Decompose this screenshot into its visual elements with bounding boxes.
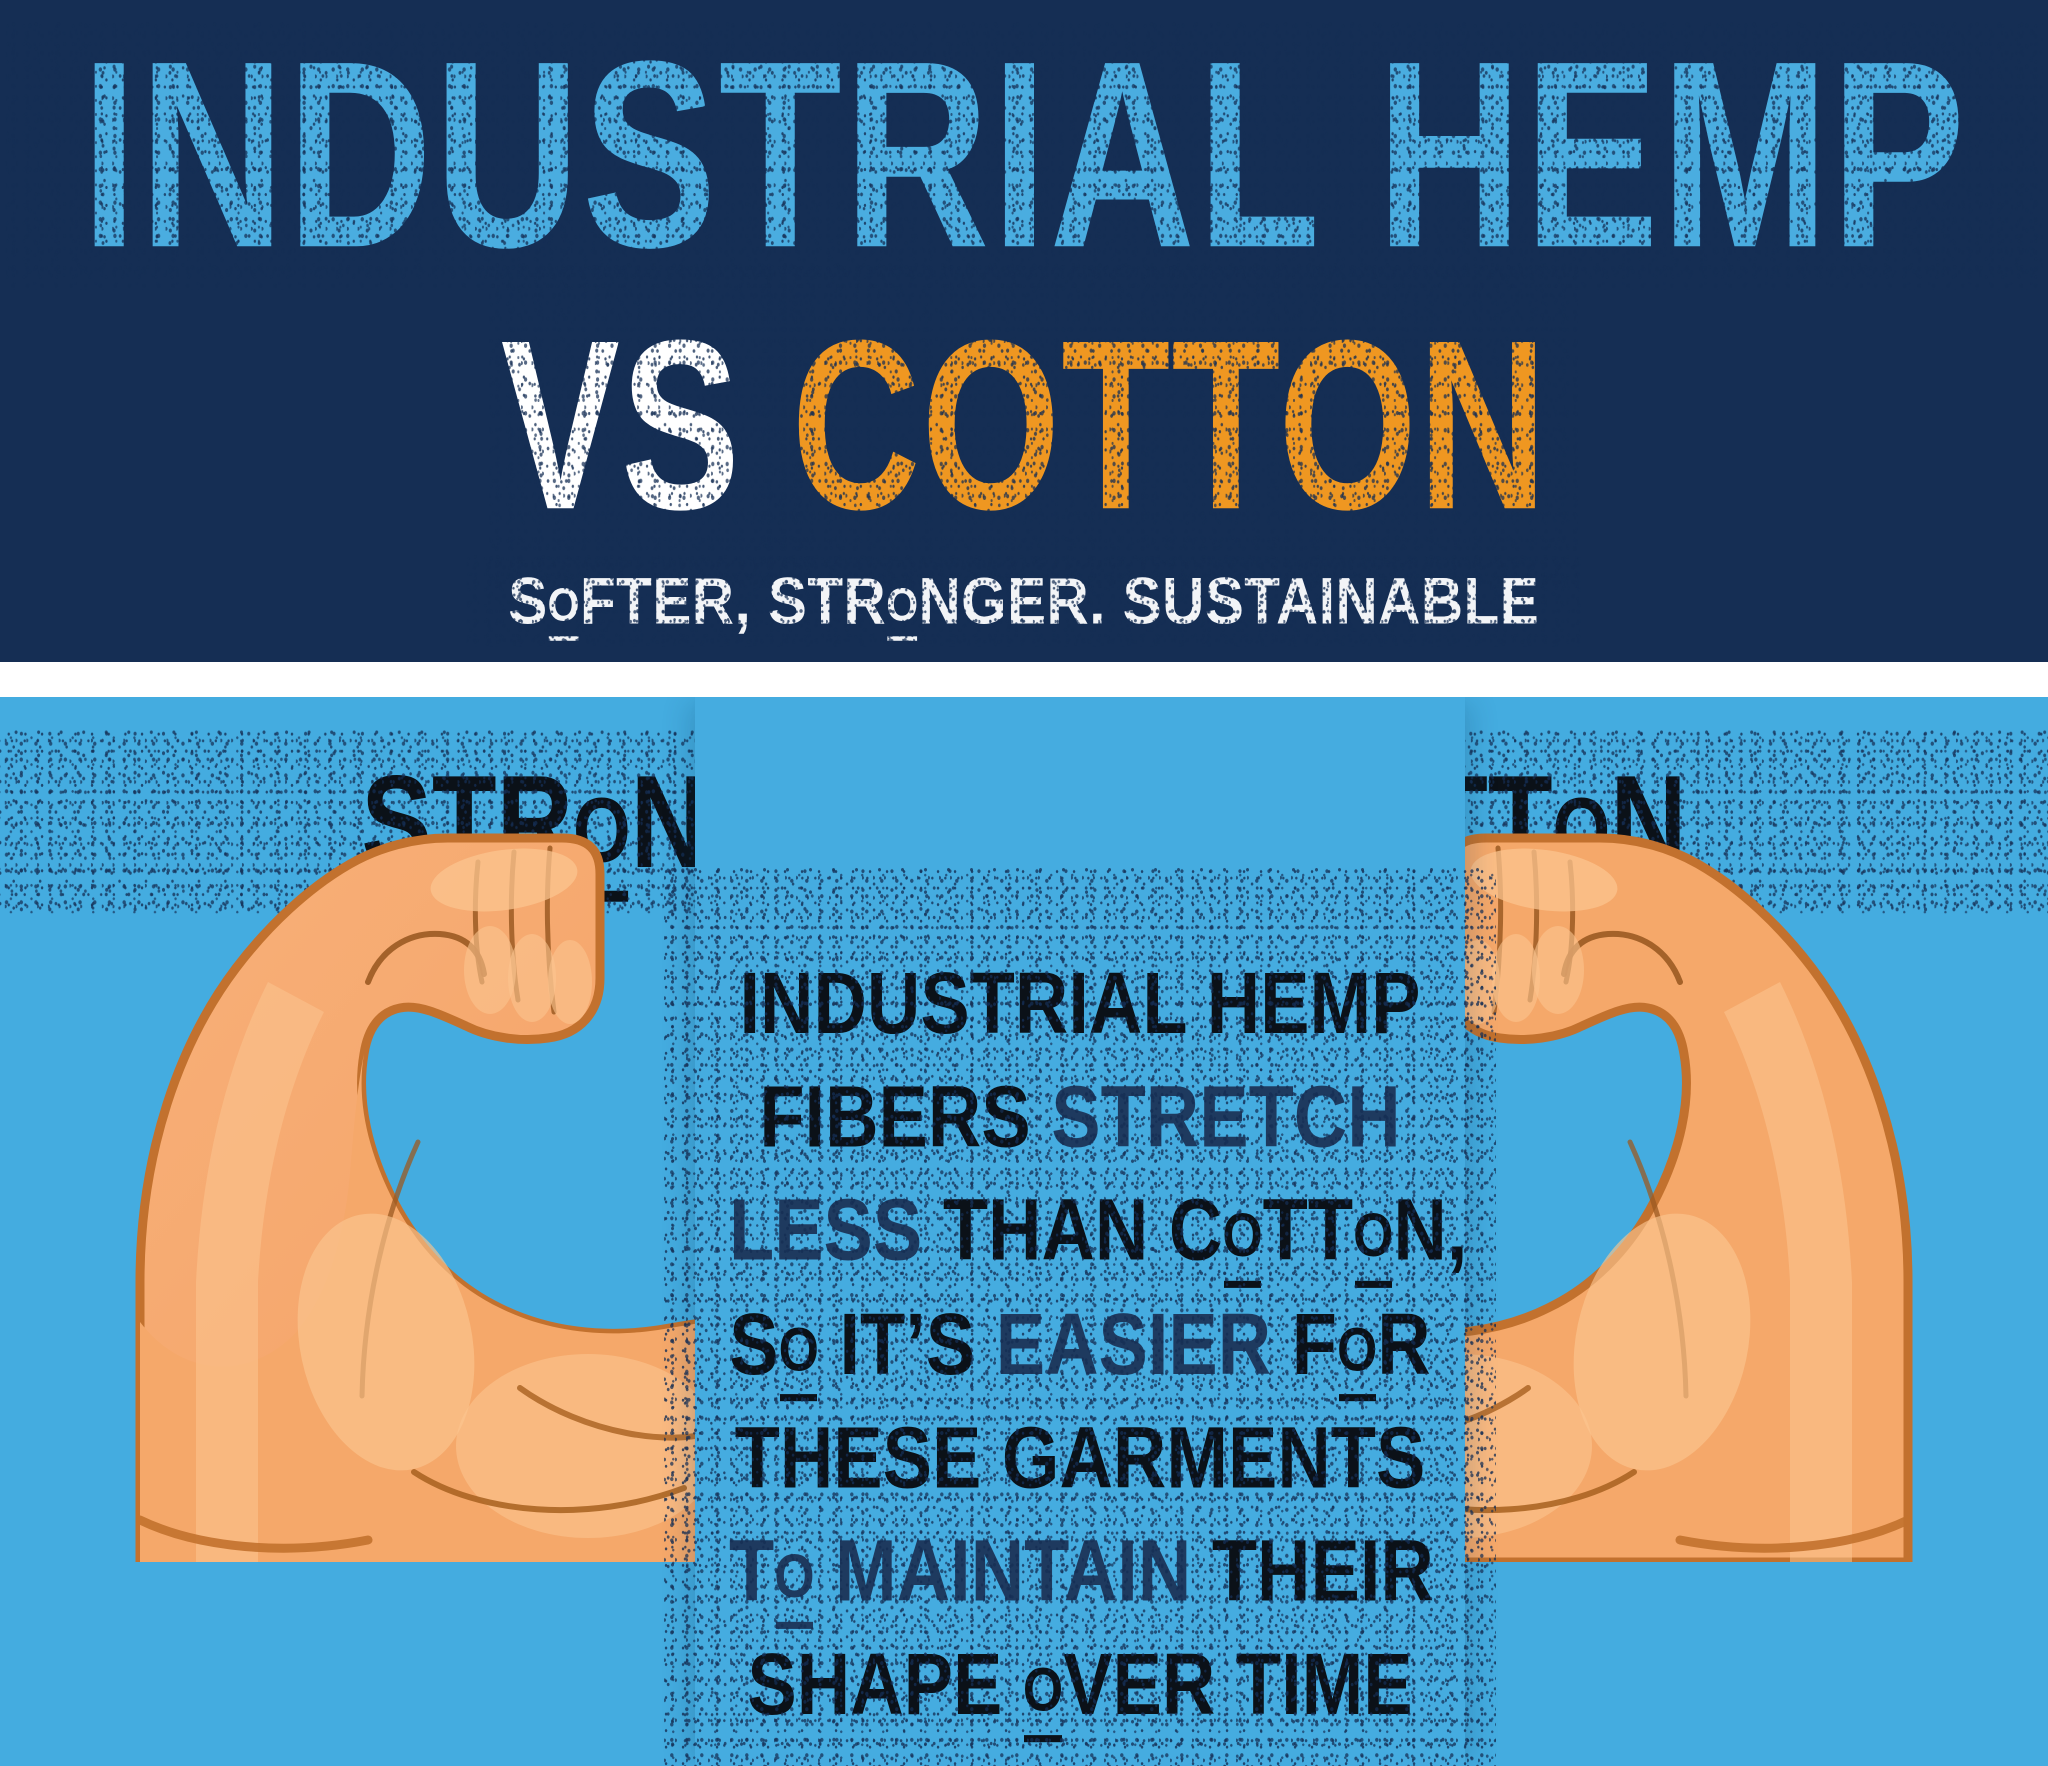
fact-line-4-plain-b: F [1271,1295,1337,1393]
fact-line-6-highlight-rest: MAINTAIN [815,1522,1192,1620]
fact-line-4: SO IT’S EASIER FOR [729,1288,1431,1402]
fact-line-4-plain-a: IT’S [819,1295,996,1393]
fact-line-4-highlight: EASIER [996,1295,1272,1393]
fact-line-4-o-glyph-2: O [1337,1310,1377,1389]
tagline-seg-1: S [509,564,548,638]
fact-line-2-plain: FIBERS [759,1068,1051,1166]
main-panel: STRONGER THAN COTTON [0,697,2048,1766]
fact-line-3-plain-c: N, [1393,1181,1467,1279]
fact-line-3-plain-a: THAN C [922,1181,1222,1279]
fact-line-6-plain: THEIR [1191,1522,1434,1620]
tagline-seg-2: FTER, STR [580,564,886,638]
section-divider [0,662,2048,697]
tagline-o-glyph-1: O [548,579,580,632]
fact-line-7-plain-b: VER TIME [1063,1635,1412,1733]
fact-line-3-o-glyph-1: O [1222,1196,1262,1275]
center-fact-card: INDUSTRIAL HEMP FIBERS STRETCH LESS THAN… [695,697,1465,1766]
fact-line-2: FIBERS STRETCH [729,1061,1431,1175]
fact-line-6-o-glyph: O [774,1537,814,1616]
fact-line-7-plain-a: SHAPE [747,1635,1023,1733]
tagline: SOFTER, STRONGER. SUSTAINABLE [509,563,1540,639]
fact-line-4-plain-c: R [1377,1295,1430,1393]
tagline-seg-3: NGER. SUSTAINABLE [919,564,1540,638]
fact-line-3-highlight: LESS [729,1181,922,1279]
fact-line-5: THESE GARMENTS [729,1401,1431,1515]
fact-line-3: LESS THAN COTTON, [729,1174,1431,1288]
fact-line-1: INDUSTRIAL HEMP [729,947,1431,1061]
fact-line-7: SHAPE OVER TIME [729,1628,1431,1742]
cotton-label: COTTON [791,291,1547,560]
fact-line-3-o-glyph-2: O [1353,1196,1393,1275]
fact-line-4-s: S [729,1295,778,1393]
tagline-o-glyph-2: O [887,579,919,632]
page-title-line1: INDUSTRIAL HEMP [81,44,1967,268]
header-banner: INDUSTRIAL HEMP VS COTTON SOFTER, STRONG… [0,0,2048,662]
fact-line-7-o-glyph: O [1023,1650,1063,1729]
fact-line-2-highlight: STRETCH [1051,1068,1400,1166]
fact-body-text: INDUSTRIAL HEMP FIBERS STRETCH LESS THAN… [695,947,1465,1742]
fact-line-3-plain-b: TT [1263,1181,1353,1279]
fact-line-4-o-glyph-1: O [779,1310,819,1389]
fact-line-6: TO MAINTAIN THEIR [729,1515,1431,1629]
vs-label: VS [500,291,791,560]
flexed-bicep-left-illustration [118,697,718,1562]
fact-line-6-highlight-t: T [729,1522,774,1620]
page-title-line2: VS COTTON [500,325,1547,528]
